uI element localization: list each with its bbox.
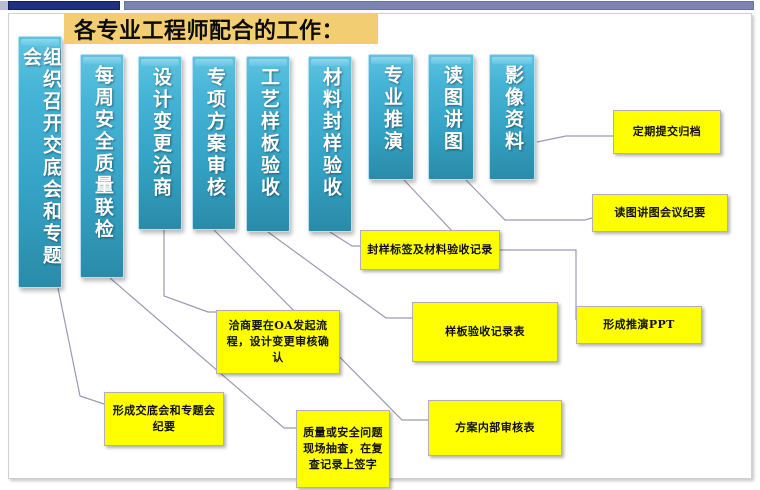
pillar-professional-deduction[interactable]: 专业推演 [368,54,414,180]
page-title: 各专业工程师配合的工作： [64,13,378,44]
top-accent-bar-light [124,1,754,10]
note-periodic-archive[interactable]: 定期提交归档 [613,110,721,154]
pillar-label: 工艺样板验收 [258,67,278,199]
top-accent-bar-left-edge [0,1,8,10]
note-plan-internal-review-form[interactable]: 方案内部审核表 [428,400,562,456]
note-site-spot-check[interactable]: 质量或安全问题现场抽查，在复查记录上签字 [296,410,390,488]
pillar-material-seal-acceptance[interactable]: 材料封样验收 [308,56,352,232]
pillar-design-change-negotiation[interactable]: 设计变更洽商 [138,56,182,230]
pillar-process-sample-acceptance[interactable]: 工艺样板验收 [246,56,290,232]
pillar-label: 影像资料 [502,65,522,153]
pillar-special-plan-review[interactable]: 专项方案审核 [192,56,236,230]
note-drawing-meeting-minutes[interactable]: 读图讲图会议纪要 [592,194,728,232]
note-sample-acceptance-form[interactable]: 样板验收记录表 [412,302,558,362]
pillar-label: 专业推演 [381,65,401,153]
pillar-video-records[interactable]: 影像资料 [489,54,535,180]
pillar-label: 组织召开交底会和专题会 [20,47,60,287]
note-oa-process[interactable]: 洽商要在OA发起流程，设计变更审核确认 [216,310,340,374]
pillar-label: 材料封样验收 [320,67,340,199]
note-deduction-ppt[interactable]: 形成推演PPT [576,306,702,344]
pillar-label: 设计变更洽商 [150,67,170,199]
pillar-label: 专项方案审核 [204,67,224,199]
pillar-organize-meeting[interactable]: 组织召开交底会和专题会 [18,36,62,288]
top-accent-bar-dark [8,1,120,10]
note-meeting-minutes[interactable]: 形成交底会和专题会纪要 [104,392,224,446]
slide-canvas: 组织召开交底会和专题会 每周安全质量联检 设计变更洽商 专项方案审核 工艺样板验… [0,0,760,490]
pillar-label: 每周安全质量联检 [92,65,112,241]
pillar-drawing-explanation[interactable]: 读图讲图 [428,54,474,180]
pillar-weekly-safety-inspection[interactable]: 每周安全质量联检 [80,54,124,278]
pillar-label: 读图讲图 [441,65,461,153]
note-seal-label-material-record[interactable]: 封样标签及材料验收记录 [360,230,500,270]
